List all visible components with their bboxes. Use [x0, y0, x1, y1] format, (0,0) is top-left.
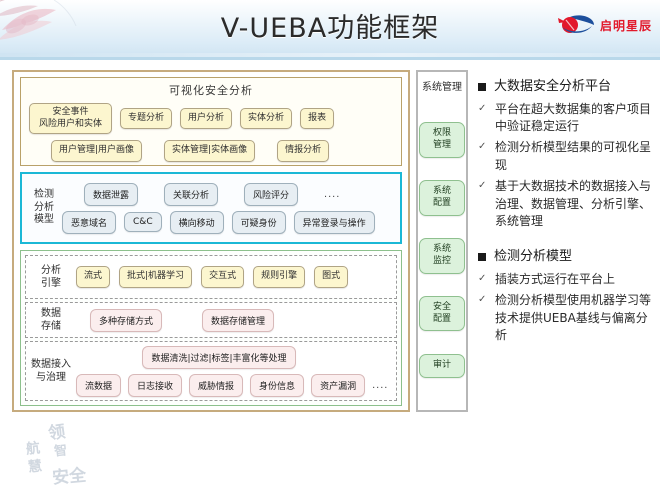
watermark-char-4: 慧 [27, 455, 43, 476]
detect-chip-risk-score[interactable]: 风险评分 [244, 183, 298, 206]
viz-chip-report[interactable]: 报表 [300, 108, 334, 129]
detect-chip-correlation[interactable]: 关联分析 [164, 183, 218, 206]
sys-chip-permission[interactable]: 权限 管理 [419, 122, 465, 157]
data-storage-label: 数据 存储 [26, 307, 76, 333]
storage-chip-multi-mode[interactable]: 多种存储方式 [90, 309, 162, 332]
corner-watermark: 领 航 智 慧 安全 [14, 418, 114, 488]
detection-model-section: 检测 分析 模型 数据泄露 关联分析 风险评分 .... 恶意域名 C&C 横向… [20, 172, 402, 244]
bullet-block-detection: 检测分析模型 ✓ 插装方式运行在平台上 ✓ 检测分析模型使用机器学习等技术提供U… [478, 248, 654, 344]
bullet-item-text: 基于大数据技术的数据接入与治理、数据管理、分析引擎、系统管理 [495, 178, 654, 230]
sys-chip-system-monitor[interactable]: 系统 监控 [419, 238, 465, 273]
analysis-engine-row: 分析 引擎 流式 批式|机器学习 交互式 规则引擎 图式 [25, 255, 397, 299]
viz-chip-entity-analysis[interactable]: 实体分析 [240, 108, 292, 129]
panel-spacer [478, 234, 654, 248]
bullet-heading-platform: 大数据安全分析平台 [478, 78, 654, 96]
bullet-item: ✓ 基于大数据技术的数据接入与治理、数据管理、分析引擎、系统管理 [478, 178, 654, 230]
feature-bullet-panel: 大数据安全分析平台 ✓ 平台在超大数据集的客户项目中验证稳定运行 ✓ 检测分析模… [478, 78, 654, 348]
storage-chip-management[interactable]: 数据存储管理 [202, 309, 274, 332]
data-storage-row: 数据 存储 多种存储方式 数据存储管理 [25, 302, 397, 338]
detection-row-2: 恶意域名 C&C 横向移动 可疑身份 异常登录与操作 [62, 211, 396, 234]
visualization-row-1: 安全事件 风险用户和实体 专题分析 用户分析 实体分析 报表 [21, 103, 401, 134]
detect-chip-cnc[interactable]: C&C [124, 212, 162, 232]
ingest-chip-log-receive[interactable]: 日志接收 [128, 374, 182, 397]
bullet-item: ✓ 检测分析模型使用机器学习等技术提供UEBA基线与偏离分析 [478, 292, 654, 344]
bullet-item-text: 检测分析模型使用机器学习等技术提供UEBA基线与偏离分析 [495, 292, 654, 344]
bullet-item: ✓ 检测分析模型结果的可视化呈现 [478, 139, 654, 174]
engine-chip-rule-engine[interactable]: 规则引擎 [253, 266, 305, 287]
detection-model-body: 数据泄露 关联分析 风险评分 .... 恶意域名 C&C 横向移动 可疑身份 异… [62, 183, 400, 234]
check-icon: ✓ [478, 181, 487, 191]
venustech-swoosh-logo-icon [556, 13, 596, 37]
engine-chip-batch-ml[interactable]: 批式|机器学习 [119, 266, 192, 287]
ingest-chip-threat-intel[interactable]: 威胁情报 [189, 374, 243, 397]
detection-model-label: 检测 分析 模型 [22, 189, 62, 227]
data-ingest-top: 数据清洗|过滤|标签|丰富化等处理 [76, 346, 392, 369]
check-icon: ✓ [478, 104, 487, 114]
bullet-block-platform: 大数据安全分析平台 ✓ 平台在超大数据集的客户项目中验证稳定运行 ✓ 检测分析模… [478, 78, 654, 230]
viz-chip-intel-analysis[interactable]: 情报分析 [277, 140, 329, 161]
viz-chip-entity-management[interactable]: 实体管理|实体画像 [164, 140, 255, 161]
bullet-item-text: 检测分析模型结果的可视化呈现 [495, 139, 654, 174]
viz-chip-user-analysis[interactable]: 用户分析 [180, 108, 232, 129]
system-management-title: 系统管理 [422, 82, 462, 94]
bullet-heading-detection: 检测分析模型 [478, 248, 654, 266]
bullet-heading-text: 大数据安全分析平台 [494, 78, 611, 96]
data-storage-items: 多种存储方式 数据存储管理 [76, 309, 396, 332]
header-divider [0, 57, 660, 60]
ingest-chip-cleansing[interactable]: 数据清洗|过滤|标签|丰富化等处理 [142, 346, 295, 369]
detection-ellipsis: .... [324, 188, 340, 200]
data-ingest-body: 数据清洗|过滤|标签|丰富化等处理 流数据 日志接收 威胁情报 身份信息 资产漏… [76, 346, 396, 397]
data-ingest-label: 数据接入 与治理 [26, 358, 76, 384]
bullet-item-text: 平台在超大数据集的客户项目中验证稳定运行 [495, 101, 654, 136]
architecture-diagram: 可视化安全分析 安全事件 风险用户和实体 专题分析 用户分析 实体分析 报表 用… [12, 70, 410, 412]
watermark-char-3: 智 [53, 439, 68, 459]
viz-chip-security-event[interactable]: 安全事件 风险用户和实体 [29, 103, 112, 134]
watermark-char-5: 安全 [51, 461, 87, 489]
logo-text: 启明星辰 [600, 17, 652, 34]
data-ingest-sources: 流数据 日志接收 威胁情报 身份信息 资产漏洞 .... [76, 374, 392, 397]
brand-logo: 启明星辰 [556, 12, 652, 38]
sys-chip-security-config[interactable]: 安全 配置 [419, 296, 465, 331]
detect-chip-lateral-movement[interactable]: 横向移动 [170, 211, 224, 234]
viz-chip-topic-analysis[interactable]: 专题分析 [120, 108, 172, 129]
engine-chip-graph[interactable]: 图式 [314, 266, 348, 287]
check-icon: ✓ [478, 142, 487, 152]
visualization-title: 可视化安全分析 [21, 82, 401, 98]
square-bullet-icon [478, 83, 486, 91]
sys-chip-audit[interactable]: 审计 [419, 354, 465, 378]
engine-chip-interactive[interactable]: 交互式 [201, 266, 244, 287]
engine-chip-stream[interactable]: 流式 [76, 266, 110, 287]
ingest-chip-identity-info[interactable]: 身份信息 [250, 374, 304, 397]
ingest-ellipsis: .... [372, 379, 388, 391]
system-management-column: 系统管理 权限 管理 系统 配置 系统 监控 安全 配置 审计 [416, 70, 468, 412]
sys-chip-system-config[interactable]: 系统 配置 [419, 180, 465, 215]
bullet-item: ✓ 插装方式运行在平台上 [478, 271, 654, 288]
bottom-bar [0, 488, 660, 494]
detect-chip-data-leak[interactable]: 数据泄露 [84, 183, 138, 206]
visualization-section: 可视化安全分析 安全事件 风险用户和实体 专题分析 用户分析 实体分析 报表 用… [20, 77, 402, 166]
bullet-heading-text: 检测分析模型 [494, 248, 572, 266]
detect-chip-abnormal-login[interactable]: 异常登录与操作 [294, 211, 375, 234]
detect-chip-malicious-domain[interactable]: 恶意域名 [62, 211, 116, 234]
square-bullet-icon [478, 253, 486, 261]
ingest-chip-asset-vuln[interactable]: 资产漏洞 [311, 374, 365, 397]
detect-chip-suspicious-identity[interactable]: 可疑身份 [232, 211, 286, 234]
platform-stack-section: 分析 引擎 流式 批式|机器学习 交互式 规则引擎 图式 数据 存储 多种存储方… [20, 250, 402, 406]
system-management-items: 权限 管理 系统 配置 系统 监控 安全 配置 审计 [418, 94, 466, 410]
detection-row-1: 数据泄露 关联分析 风险评分 .... [62, 183, 396, 206]
bullet-item-text: 插装方式运行在平台上 [495, 271, 615, 288]
visualization-row-2: 用户管理|用户画像 实体管理|实体画像 情报分析 [21, 140, 401, 161]
analysis-engine-label: 分析 引擎 [26, 264, 76, 290]
analysis-engine-items: 流式 批式|机器学习 交互式 规则引擎 图式 [76, 266, 396, 287]
bullet-item: ✓ 平台在超大数据集的客户项目中验证稳定运行 [478, 101, 654, 136]
header-banner: V-UEBA功能框架 启明星辰 [0, 0, 660, 57]
viz-chip-user-management[interactable]: 用户管理|用户画像 [51, 140, 142, 161]
check-icon: ✓ [478, 274, 487, 284]
data-ingest-row: 数据接入 与治理 数据清洗|过滤|标签|丰富化等处理 流数据 日志接收 威胁情报… [25, 341, 397, 401]
check-icon: ✓ [478, 295, 487, 305]
ingest-chip-stream-data[interactable]: 流数据 [76, 374, 121, 397]
